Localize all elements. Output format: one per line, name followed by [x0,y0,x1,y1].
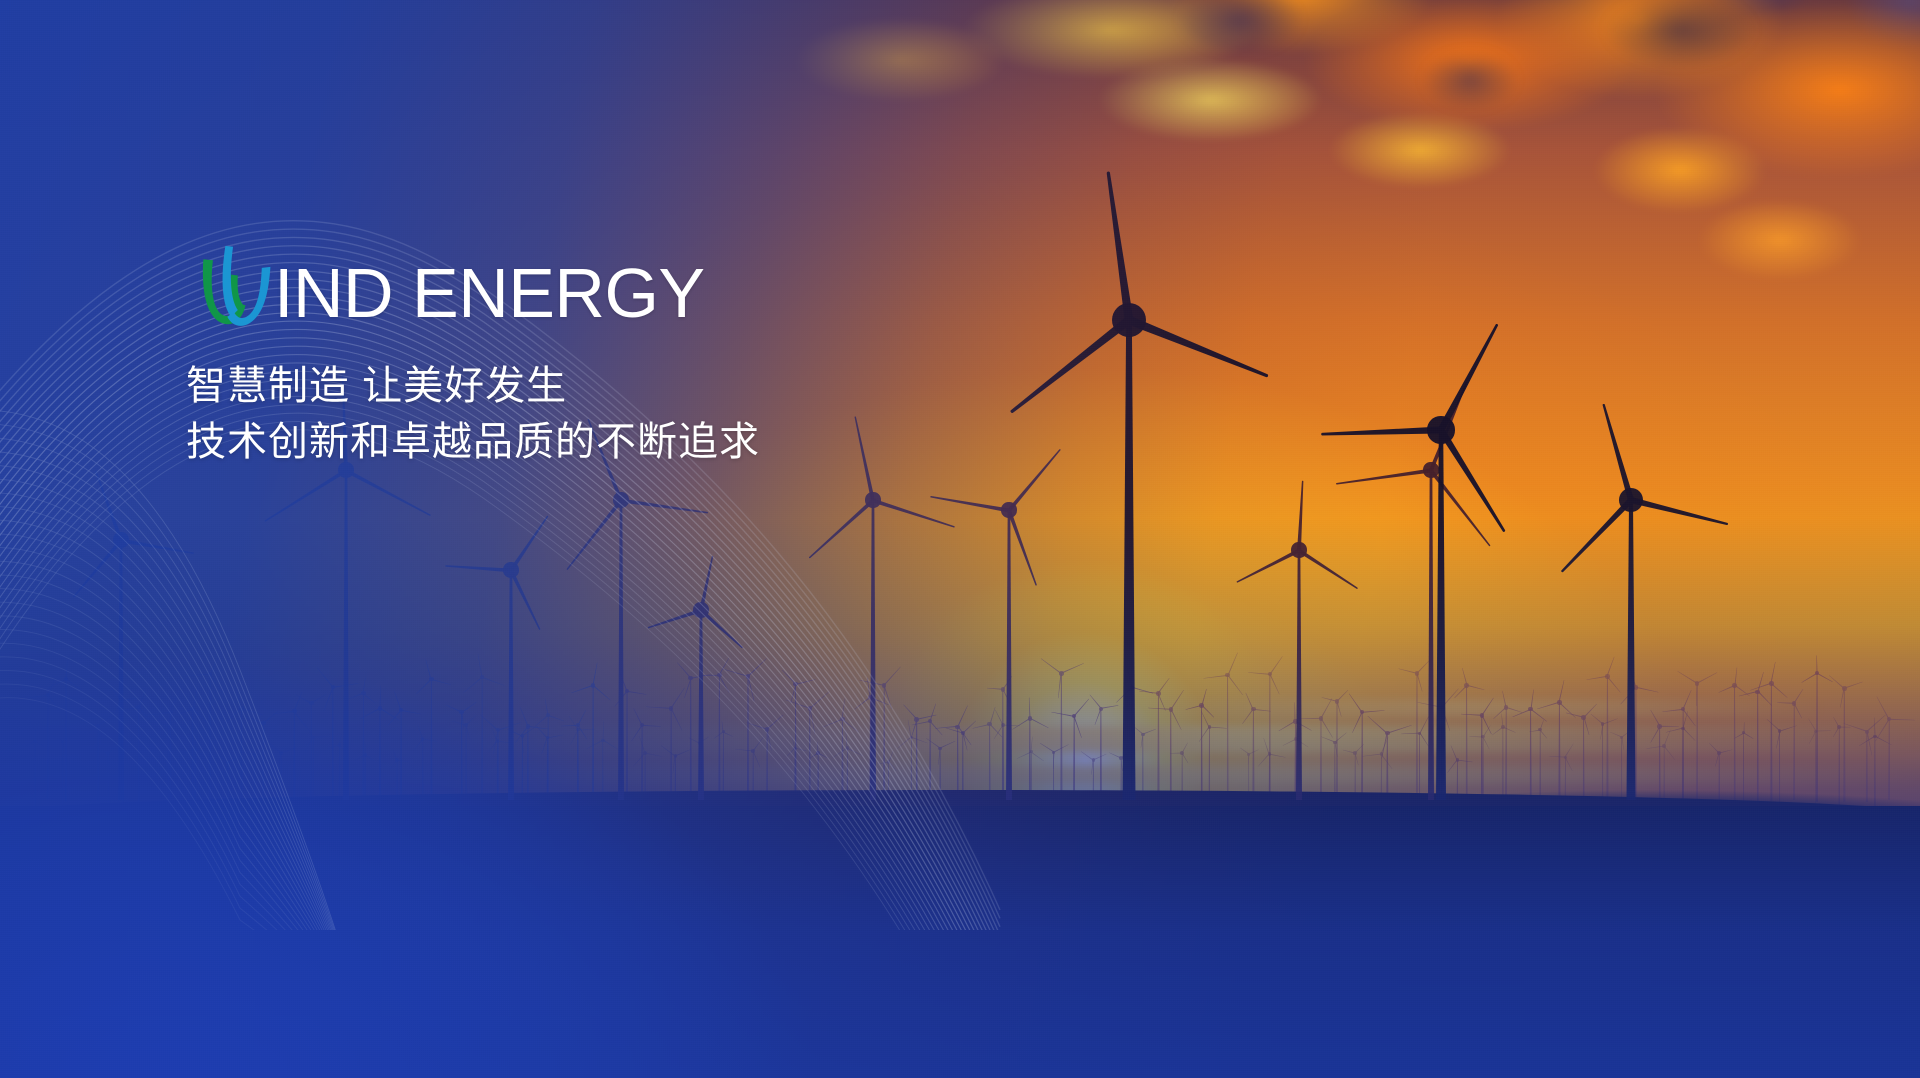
tagline-line-1: 智慧制造 让美好发生 [186,358,1086,414]
hero-tagline: 智慧制造 让美好发生 技术创新和卓越品质的不断追求 [186,358,1086,470]
brand-wordmark: IND ENERGY [274,258,705,328]
tagline-line-2: 技术创新和卓越品质的不断追求 [186,414,1086,470]
brand-lockup: IND ENERGY [186,236,1086,332]
wind-turbine-w-logo-icon [186,242,282,334]
hero-banner: IND ENERGY 智慧制造 让美好发生 技术创新和卓越品质的不断追求 [0,0,1920,1078]
brand-blue-corner-glow [0,378,1100,1078]
hero-content: IND ENERGY 智慧制造 让美好发生 技术创新和卓越品质的不断追求 [186,236,1086,470]
